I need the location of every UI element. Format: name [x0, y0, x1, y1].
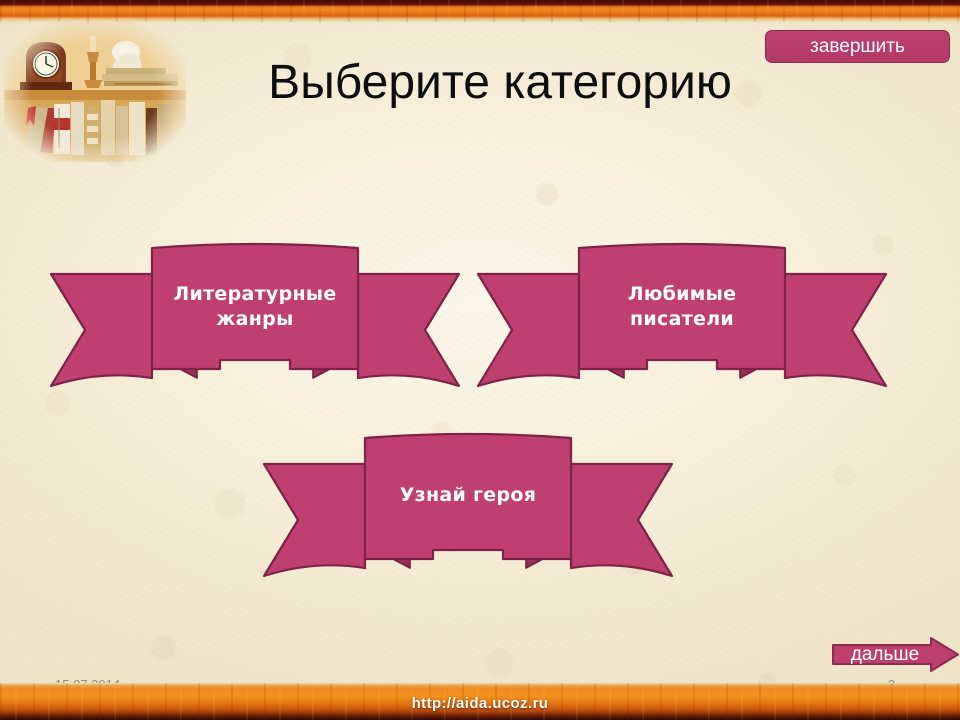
footer-url: http://aida.ucoz.ru: [0, 695, 960, 712]
slide-canvas: Выберите категорию завершить Литературны…: [0, 0, 960, 720]
bookshelf-illustration: [4, 22, 186, 162]
top-wood-border: [0, 0, 960, 22]
finish-button[interactable]: завершить: [765, 30, 950, 63]
category-ribbon-writers[interactable]: Любимые писатели: [472, 238, 892, 403]
category-ribbon-hero[interactable]: Узнай героя: [258, 428, 678, 593]
next-button[interactable]: дальше: [831, 637, 960, 672]
category-ribbon-genres[interactable]: Литературные жанры: [45, 238, 465, 403]
finish-button-label: завершить: [810, 36, 905, 58]
page-title: Выберите категорию: [190, 58, 810, 108]
